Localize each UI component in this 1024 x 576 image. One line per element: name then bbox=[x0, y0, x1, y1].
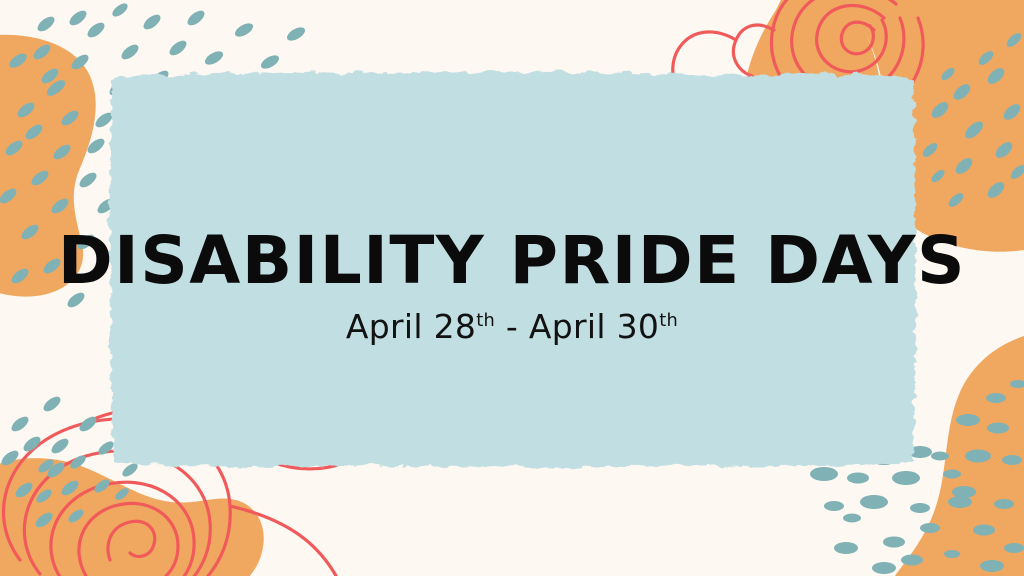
light-blue-brush-panel bbox=[0, 0, 1024, 576]
slide-canvas: DISABILITY PRIDE DAYS April 28th - April… bbox=[0, 0, 1024, 576]
